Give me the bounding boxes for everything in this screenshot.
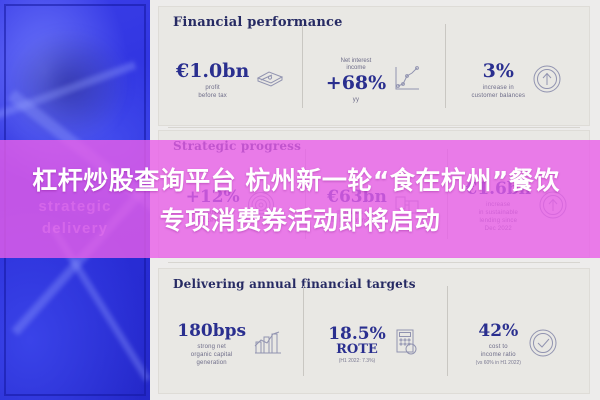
stat-cell: 3% increase incustomer balances (446, 62, 589, 100)
stat-label: increase incustomer balances (471, 84, 525, 100)
stat-cell: 180bps strong netorganic capitalgenerati… (159, 323, 302, 367)
stat-cell: 42% cost toincome ratio (vs 60% in H1 20… (446, 323, 589, 367)
stat-label: profitbefore tax (176, 84, 249, 100)
overlay-line-2: 专项消费券活动即将启动 (160, 201, 441, 237)
stat-row: €1.0bn profitbefore tax Net interestinco… (159, 43, 589, 119)
stat-value: 3% (471, 62, 525, 82)
line-chart-icon (392, 64, 422, 99)
panel-annual-targets: Delivering annual financial targets 180b… (158, 268, 590, 394)
stat-rote: 18.5% ROTE (H1 2022: 7.3%) (328, 326, 386, 365)
stat-cost-income-ratio: 42% cost toincome ratio (vs 60% in H1 20… (476, 323, 521, 367)
panel-financial-performance: Financial performance €1.0bn profitbefor… (158, 6, 590, 126)
screenshot-root: strategic delivery Financial performance… (0, 0, 600, 400)
stat-cell: 18.5% ROTE (H1 2022: 7.3%) (302, 326, 445, 365)
stat-value: +68% (326, 74, 386, 94)
stat-note: (vs 60% in H1 2022) (476, 360, 521, 367)
stat-row: 180bps strong netorganic capitalgenerati… (159, 303, 589, 387)
panel-title: Financial performance (173, 15, 343, 30)
panel-separator (168, 262, 580, 263)
stat-profit-before-tax: €1.0bn profitbefore tax (176, 62, 249, 100)
stat-cell: €1.0bn profitbefore tax (159, 62, 302, 100)
overlay-line-1: 杠杆炒股查询平台 杭州新一轮“食在杭州”餐饮 (32, 161, 568, 197)
stat-value: €1.0bn (176, 62, 249, 82)
stat-cell: Net interestincome +68% yy (302, 58, 445, 105)
bar-chart-icon (252, 329, 284, 362)
overlay-caption: 杠杆炒股查询平台 杭州新一轮“食在杭州”餐饮 专项消费券活动即将启动 (0, 140, 600, 258)
circle-arrow-up-icon (531, 63, 563, 100)
panel-title: Delivering annual financial targets (173, 277, 416, 291)
circle-check-icon (527, 327, 559, 364)
stat-customer-balances: 3% increase incustomer balances (471, 62, 525, 100)
stat-label: cost toincome ratio (476, 343, 521, 359)
stat-value: 180bps (177, 323, 246, 341)
calculator-icon (392, 327, 420, 362)
stat-label: ROTE (328, 343, 386, 357)
panel-separator (168, 127, 580, 128)
stat-value: 42% (476, 323, 521, 341)
stat-label: yy (326, 96, 386, 104)
stat-label-above: Net interestincome (326, 58, 386, 74)
stat-label: strong netorganic capitalgeneration (177, 343, 246, 367)
stat-value: 18.5% (328, 326, 386, 344)
stat-net-interest-income: Net interestincome +68% yy (326, 58, 386, 105)
stat-note: (H1 2022: 7.3%) (328, 358, 386, 365)
cash-stack-icon (255, 67, 285, 96)
stat-organic-capital: 180bps strong netorganic capitalgenerati… (177, 323, 246, 367)
